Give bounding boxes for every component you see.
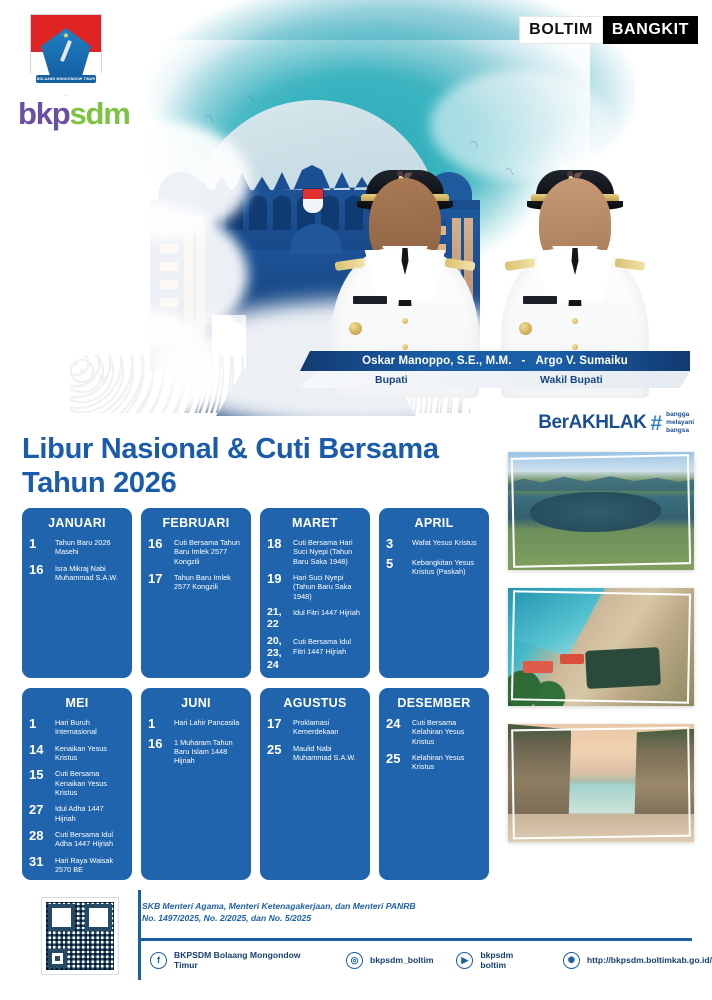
- holiday-label: Isra Mikraj Nabi Muhammad S.A.W.: [55, 563, 125, 583]
- holiday-entry: 20, 23, 24Cuti Bersama Idul Fitri 1447 H…: [267, 636, 363, 671]
- holiday-label: Cuti Bersama Idul Adha 1447 Hijriah: [55, 829, 125, 849]
- holiday-entry: 27Idul Adha 1447 Hijriah: [29, 803, 125, 823]
- holiday-label: Tahun Baru Imlek 2577 Kongzili: [174, 572, 244, 592]
- month-card-januari: JANUARI1Tahun Baru 2026 Masehi16Isra Mik…: [22, 508, 132, 678]
- tourism-photo-column: [508, 452, 698, 860]
- berakhlak-tag-2: melayani: [666, 419, 694, 427]
- wakil-title-text: Wakil Bupati: [540, 374, 603, 386]
- holiday-date: 24: [386, 717, 407, 731]
- holiday-date: 25: [386, 752, 407, 766]
- qr-code[interactable]: [42, 898, 118, 974]
- skb-reference: SKB Menteri Agama, Menteri Ketenagakerja…: [142, 900, 416, 925]
- beach-resort-aerial-photo: [508, 588, 694, 706]
- month-card-februari: FEBRUARI16Cuti Bersama Tahun Baru Imlek …: [141, 508, 251, 678]
- holiday-label: Proklamasi Kemerdekaan: [293, 717, 363, 737]
- holiday-label: Idul Adha 1447 Hijriah: [55, 803, 125, 823]
- holiday-label: Hari Buruh Internasional: [55, 717, 125, 737]
- holiday-label: Hari Raya Waisak 2570 BE: [55, 855, 125, 875]
- social-handle[interactable]: bkpsdm boltim: [480, 950, 540, 970]
- header-artwork: PEMERINTAH KABUPATEN BOLAANG MONGONDOW T…: [0, 0, 712, 420]
- title-line-1: Libur Nasional & Cuti Bersama: [22, 432, 439, 466]
- kabupaten-ribbon-text: BOLAANG MONGONDOW TIMUR: [36, 75, 96, 83]
- month-cards-grid: JANUARI1Tahun Baru 2026 Masehi16Isra Mik…: [22, 508, 492, 880]
- holiday-entry: 25Maulid Nabi Muhammad S.A.W.: [267, 743, 363, 763]
- holiday-date: 1: [29, 537, 50, 551]
- holiday-entry: 161 Muharam Tahun Baru Islam 1448 Hijria…: [148, 737, 244, 766]
- holiday-date: 1: [148, 717, 169, 731]
- month-card-desember: DESEMBER24Cuti Bersama Kelahiran Yesus K…: [379, 688, 489, 880]
- holiday-entry: 14Kenaikan Yesus Kristus: [29, 743, 125, 763]
- holiday-label: Cuti Bersama Idul Fitri 1447 Hijriah: [293, 636, 363, 656]
- skb-line-1: SKB Menteri Agama, Menteri Ketenagakerja…: [142, 900, 416, 912]
- wakil-badge: [519, 322, 532, 335]
- bird-icon-1: 〽: [205, 112, 214, 125]
- bupati-epaulette-right: [445, 258, 476, 271]
- holiday-entry: 1Hari Buruh Internasional: [29, 717, 125, 737]
- holiday-entry: 1Hari Lahir Pancasila: [148, 717, 244, 731]
- month-name: MARET: [267, 516, 363, 530]
- holiday-label: Idul Fitri 1447 Hijriah: [293, 607, 360, 617]
- bupati-nameplate: [353, 296, 387, 304]
- wakil-epaulette-left: [505, 258, 536, 271]
- berakhlak-label: BerAKHLAK: [538, 412, 646, 434]
- holiday-label: Hari Suci Nyepi (Tahun Baru Saka 1948): [293, 572, 363, 601]
- holiday-label: Hari Lahir Pancasila: [174, 717, 239, 727]
- holiday-date: 5: [386, 557, 407, 571]
- officials-titles-row: Bupati Wakil Bupati: [300, 371, 690, 388]
- holiday-date: 28: [29, 829, 50, 843]
- bupati-name-text: Oskar Manoppo, S.E., M.M.: [362, 355, 511, 367]
- holiday-entry: 3Wafat Yesus Kristus: [386, 537, 482, 551]
- berakhlak-tagline: bangga melayani bangsa: [666, 411, 694, 435]
- bupati-title-text: Bupati: [375, 374, 408, 386]
- holiday-date: 31: [29, 855, 50, 869]
- bkpsdm-logo-part1: bkp: [18, 96, 70, 131]
- title-line-2: Tahun 2026: [22, 466, 439, 500]
- officials-names-row: Oskar Manoppo, S.E., M.M. - Argo V. Suma…: [300, 351, 690, 371]
- holiday-entry: 24Cuti Bersama Kelahiran Yesus Kristus: [386, 717, 482, 746]
- month-name: DESEMBER: [386, 696, 482, 710]
- holiday-entry: 31Hari Raya Waisak 2570 BE: [29, 855, 125, 875]
- holiday-date: 20, 23, 24: [267, 636, 288, 671]
- boltim-bangkit-logo: BOLTIM BANGKIT: [519, 16, 698, 44]
- holiday-entry: 1Tahun Baru 2026 Masehi: [29, 537, 125, 557]
- berakhlak-tag-3: bangsa: [666, 427, 694, 435]
- holiday-label: 1 Muharam Tahun Baru Islam 1448 Hijriah: [174, 737, 244, 766]
- holiday-label: Cuti Bersama Kelahiran Yesus Kristus: [412, 717, 482, 746]
- holiday-label: Wafat Yesus Kristus: [412, 537, 477, 547]
- holiday-label: Kebangkitan Yesus Kristus (Paskah): [412, 557, 482, 577]
- holiday-label: Maulid Nabi Muhammad S.A.W.: [293, 743, 363, 763]
- youtube-icon[interactable]: ▶: [456, 952, 473, 969]
- month-name: JUNI: [148, 696, 244, 710]
- skb-line-2: No. 1497/2025, No. 2/2025, dan No. 5/202…: [142, 912, 416, 924]
- berakhlak-logo: BerAKHLAK # bangga melayani bangsa: [538, 411, 694, 435]
- wakil-epaulette-right: [615, 258, 646, 271]
- month-name: AGUSTUS: [267, 696, 363, 710]
- footer-divider: [140, 938, 692, 941]
- holiday-label: Cuti Bersama Kenaikan Yesus Kristus: [55, 768, 125, 797]
- holiday-entry: 17Proklamasi Kemerdekaan: [267, 717, 363, 737]
- holiday-date: 19: [267, 572, 288, 586]
- holiday-calendar-poster: PEMERINTAH KABUPATEN BOLAANG MONGONDOW T…: [0, 0, 712, 1000]
- holiday-date: 18: [267, 537, 288, 551]
- holiday-date: 17: [267, 717, 288, 731]
- wakil-name-text: Argo V. Sumaiku: [535, 355, 627, 367]
- social-handle[interactable]: bkpsdm_boltim: [370, 955, 434, 965]
- website-icon[interactable]: ✺: [563, 952, 580, 969]
- holiday-date: 16: [148, 737, 169, 751]
- berakhlak-tag-1: bangga: [666, 411, 694, 419]
- holiday-date: 14: [29, 743, 50, 757]
- bupati-badge: [349, 322, 362, 335]
- holiday-entry: 19Hari Suci Nyepi (Tahun Baru Saka 1948): [267, 572, 363, 601]
- holiday-date: 1: [29, 717, 50, 731]
- instagram-icon[interactable]: ◎: [346, 952, 363, 969]
- holiday-date: 16: [29, 563, 50, 577]
- social-handle[interactable]: BKPSDM Bolaang Mongondow Timur: [174, 950, 323, 970]
- officials-name-banner: Oskar Manoppo, S.E., M.M. - Argo V. Suma…: [300, 351, 690, 388]
- poster-title: Libur Nasional & Cuti Bersama Tahun 2026: [22, 432, 439, 500]
- holiday-label: Cuti Bersama Hari Suci Nyepi (Tahun Baru…: [293, 537, 363, 566]
- holiday-date: 16: [148, 537, 169, 551]
- bkpsdm-logo-part2: sdm: [70, 96, 130, 131]
- bangkit-text: BANGKIT: [603, 16, 698, 44]
- month-card-juni: JUNI1Hari Lahir Pancasila161 Muharam Tah…: [141, 688, 251, 880]
- holiday-date: 25: [267, 743, 288, 757]
- hash-icon: #: [650, 413, 662, 434]
- social-handle[interactable]: http://bkpsdm.boltimkab.go.id/: [587, 955, 712, 965]
- holiday-label: Cuti Bersama Tahun Baru Imlek 2577 Kongz…: [174, 537, 244, 566]
- holiday-date: 21, 22: [267, 607, 288, 631]
- building-crest-icon: [302, 188, 324, 214]
- holiday-label: Tahun Baru 2026 Masehi: [55, 537, 125, 557]
- holiday-entry: 18Cuti Bersama Hari Suci Nyepi (Tahun Ba…: [267, 537, 363, 566]
- holiday-entry: 25Kelahiran Yesus Kristus: [386, 752, 482, 772]
- month-name: JANUARI: [29, 516, 125, 530]
- coastal-cliffs-photo: [508, 724, 694, 842]
- month-card-april: APRIL3Wafat Yesus Kristus5Kebangkitan Ye…: [379, 508, 489, 678]
- holiday-entry: 15Cuti Bersama Kenaikan Yesus Kristus: [29, 768, 125, 797]
- holiday-entry: 16Isra Mikraj Nabi Muhammad S.A.W.: [29, 563, 125, 583]
- lake-aerial-photo: [508, 452, 694, 570]
- holiday-entry: 21, 22Idul Fitri 1447 Hijriah: [267, 607, 363, 631]
- holiday-date: 3: [386, 537, 407, 551]
- holiday-date: 17: [148, 572, 169, 586]
- holiday-entry: 5Kebangkitan Yesus Kristus (Paskah): [386, 557, 482, 577]
- boltim-text: BOLTIM: [519, 16, 603, 44]
- wakil-nameplate: [523, 296, 557, 304]
- bkpsdm-logo: bkpsdm: [18, 96, 130, 132]
- holiday-date: 27: [29, 803, 50, 817]
- holiday-entry: 17Tahun Baru Imlek 2577 Kongzili: [148, 572, 244, 592]
- month-name: FEBRUARI: [148, 516, 244, 530]
- holiday-label: Kenaikan Yesus Kristus: [55, 743, 125, 763]
- footer-left-rule: [138, 890, 141, 980]
- holiday-entry: 16Cuti Bersama Tahun Baru Imlek 2577 Kon…: [148, 537, 244, 566]
- month-name: APRIL: [386, 516, 482, 530]
- facebook-icon[interactable]: f: [150, 952, 167, 969]
- month-card-maret: MARET18Cuti Bersama Hari Suci Nyepi (Tah…: [260, 508, 370, 678]
- name-separator: -: [522, 355, 526, 367]
- social-links-row: fBKPSDM Bolaang Mongondow Timur◎bkpsdm_b…: [150, 950, 712, 970]
- bupati-epaulette-left: [335, 258, 366, 271]
- bird-icon-2: 〽: [245, 92, 254, 105]
- holiday-date: 15: [29, 768, 50, 782]
- month-card-agustus: AGUSTUS17Proklamasi Kemerdekaan25Maulid …: [260, 688, 370, 880]
- month-card-mei: MEI1Hari Buruh Internasional14Kenaikan Y…: [22, 688, 132, 880]
- kabupaten-coat-of-arms: BOLAANG MONGONDOW TIMUR: [30, 14, 102, 96]
- holiday-entry: 28Cuti Bersama Idul Adha 1447 Hijriah: [29, 829, 125, 849]
- month-name: MEI: [29, 696, 125, 710]
- holiday-label: Kelahiran Yesus Kristus: [412, 752, 482, 772]
